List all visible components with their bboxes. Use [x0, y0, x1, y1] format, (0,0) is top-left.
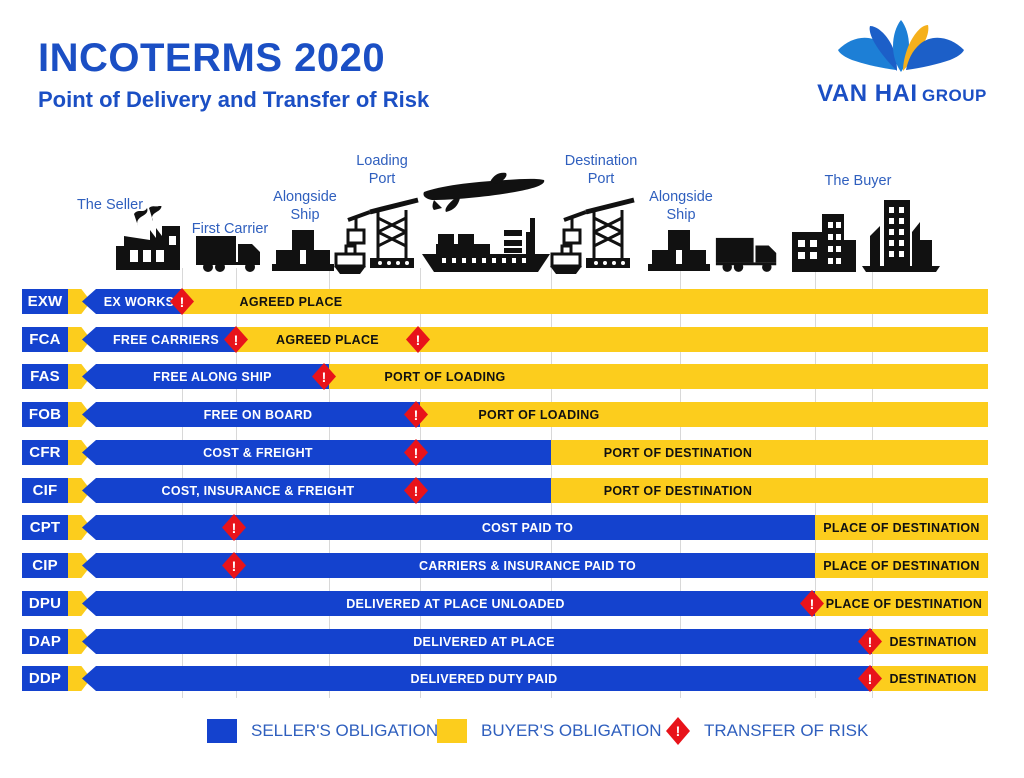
incoterm-row-cif[interactable]: CIFCOST, INSURANCE & FREIGHTPORT OF DEST…	[0, 478, 1024, 503]
legend-item-transfer-of-risk: !TRANSFER OF RISK	[666, 714, 868, 748]
seller-obligation-segment	[82, 666, 872, 691]
buyer-obligation-segment	[872, 629, 988, 654]
seller-obligation-segment	[82, 553, 815, 578]
incoterm-row-fca[interactable]: FCAFREE CARRIERSAGREED PLACE!!	[0, 327, 1024, 352]
transfer-of-risk-icon: !	[224, 326, 248, 353]
incoterm-code-label: CIP	[22, 553, 68, 578]
transfer-of-risk-icon: !	[406, 326, 430, 353]
incoterm-code-label: CIF	[22, 478, 68, 503]
transfer-of-risk-icon: !	[170, 288, 194, 315]
transfer-of-risk-icon: !	[404, 439, 428, 466]
transfer-of-risk-icon: !	[858, 628, 882, 655]
legend-item-buyer-s-obligation: BUYER'S OBLIGATION	[437, 714, 662, 748]
incoterm-row-dap[interactable]: DAPDELIVERED AT PLACEDESTINATION!	[0, 629, 1024, 654]
incoterm-row-exw[interactable]: EXWEX WORKSAGREED PLACE!	[0, 289, 1024, 314]
legend-label: SELLER'S OBLIGATION	[251, 721, 438, 741]
incoterm-row-ddp[interactable]: DDPDELIVERED DUTY PAIDDESTINATION!	[0, 666, 1024, 691]
incoterm-code-label: DAP	[22, 629, 68, 654]
incoterm-code-label: FAS	[22, 364, 68, 389]
legend-label: BUYER'S OBLIGATION	[481, 721, 662, 741]
seller-obligation-segment	[82, 327, 236, 352]
transfer-of-risk-icon: !	[404, 477, 428, 504]
buyer-obligation-segment	[420, 402, 988, 427]
seller-obligation-segment	[82, 515, 815, 540]
buyer-obligation-segment	[872, 666, 988, 691]
legend: SELLER'S OBLIGATIONBUYER'S OBLIGATION!TR…	[0, 714, 1024, 758]
incoterm-row-fas[interactable]: FASFREE ALONG SHIPPORT OF LOADING!	[0, 364, 1024, 389]
seller-obligation-segment	[82, 591, 815, 616]
transfer-of-risk-icon: !	[222, 514, 246, 541]
transfer-of-risk-icon: !	[222, 552, 246, 579]
incoterm-code-label: FCA	[22, 327, 68, 352]
incoterm-code-label: CPT	[22, 515, 68, 540]
buyer-obligation-segment	[815, 515, 988, 540]
seller-obligation-segment	[82, 402, 420, 427]
buyer-obligation-segment	[236, 327, 988, 352]
risk-diamond-icon: !	[666, 717, 690, 745]
blue-square-icon	[207, 719, 237, 743]
incoterm-code-label: FOB	[22, 402, 68, 427]
buyer-obligation-segment	[815, 591, 988, 616]
legend-label: TRANSFER OF RISK	[704, 721, 868, 741]
transfer-of-risk-icon: !	[800, 590, 824, 617]
incoterm-code-label: DPU	[22, 591, 68, 616]
incoterm-code-label: EXW	[22, 289, 68, 314]
seller-obligation-segment	[82, 478, 551, 503]
incoterm-row-dpu[interactable]: DPUDELIVERED AT PLACE UNLOADEDPLACE OF D…	[0, 591, 1024, 616]
buyer-obligation-segment	[551, 440, 988, 465]
yellow-square-icon	[437, 719, 467, 743]
incoterms-rows: EXWEX WORKSAGREED PLACE!FCAFREE CARRIERS…	[0, 0, 1024, 778]
incoterm-row-cip[interactable]: CIPCARRIERS & INSURANCE PAID TOPLACE OF …	[0, 553, 1024, 578]
transfer-of-risk-icon: !	[312, 363, 336, 390]
transfer-of-risk-icon: !	[858, 665, 882, 692]
incoterm-code-label: DDP	[22, 666, 68, 691]
buyer-obligation-segment	[551, 478, 988, 503]
transfer-of-risk-icon: !	[404, 401, 428, 428]
incoterm-code-label: CFR	[22, 440, 68, 465]
incoterm-row-cfr[interactable]: CFRCOST & FREIGHTPORT OF DESTINATION!	[0, 440, 1024, 465]
seller-obligation-segment	[82, 629, 872, 654]
buyer-obligation-segment	[815, 553, 988, 578]
seller-obligation-segment	[82, 289, 182, 314]
buyer-obligation-segment	[182, 289, 988, 314]
seller-obligation-segment	[82, 440, 551, 465]
incoterm-row-fob[interactable]: FOBFREE ON BOARDPORT OF LOADING!	[0, 402, 1024, 427]
incoterm-row-cpt[interactable]: CPTCOST PAID TOPLACE OF DESTINATION!	[0, 515, 1024, 540]
buyer-obligation-segment	[329, 364, 988, 389]
seller-obligation-segment	[82, 364, 329, 389]
legend-item-seller-s-obligation: SELLER'S OBLIGATION	[207, 714, 438, 748]
